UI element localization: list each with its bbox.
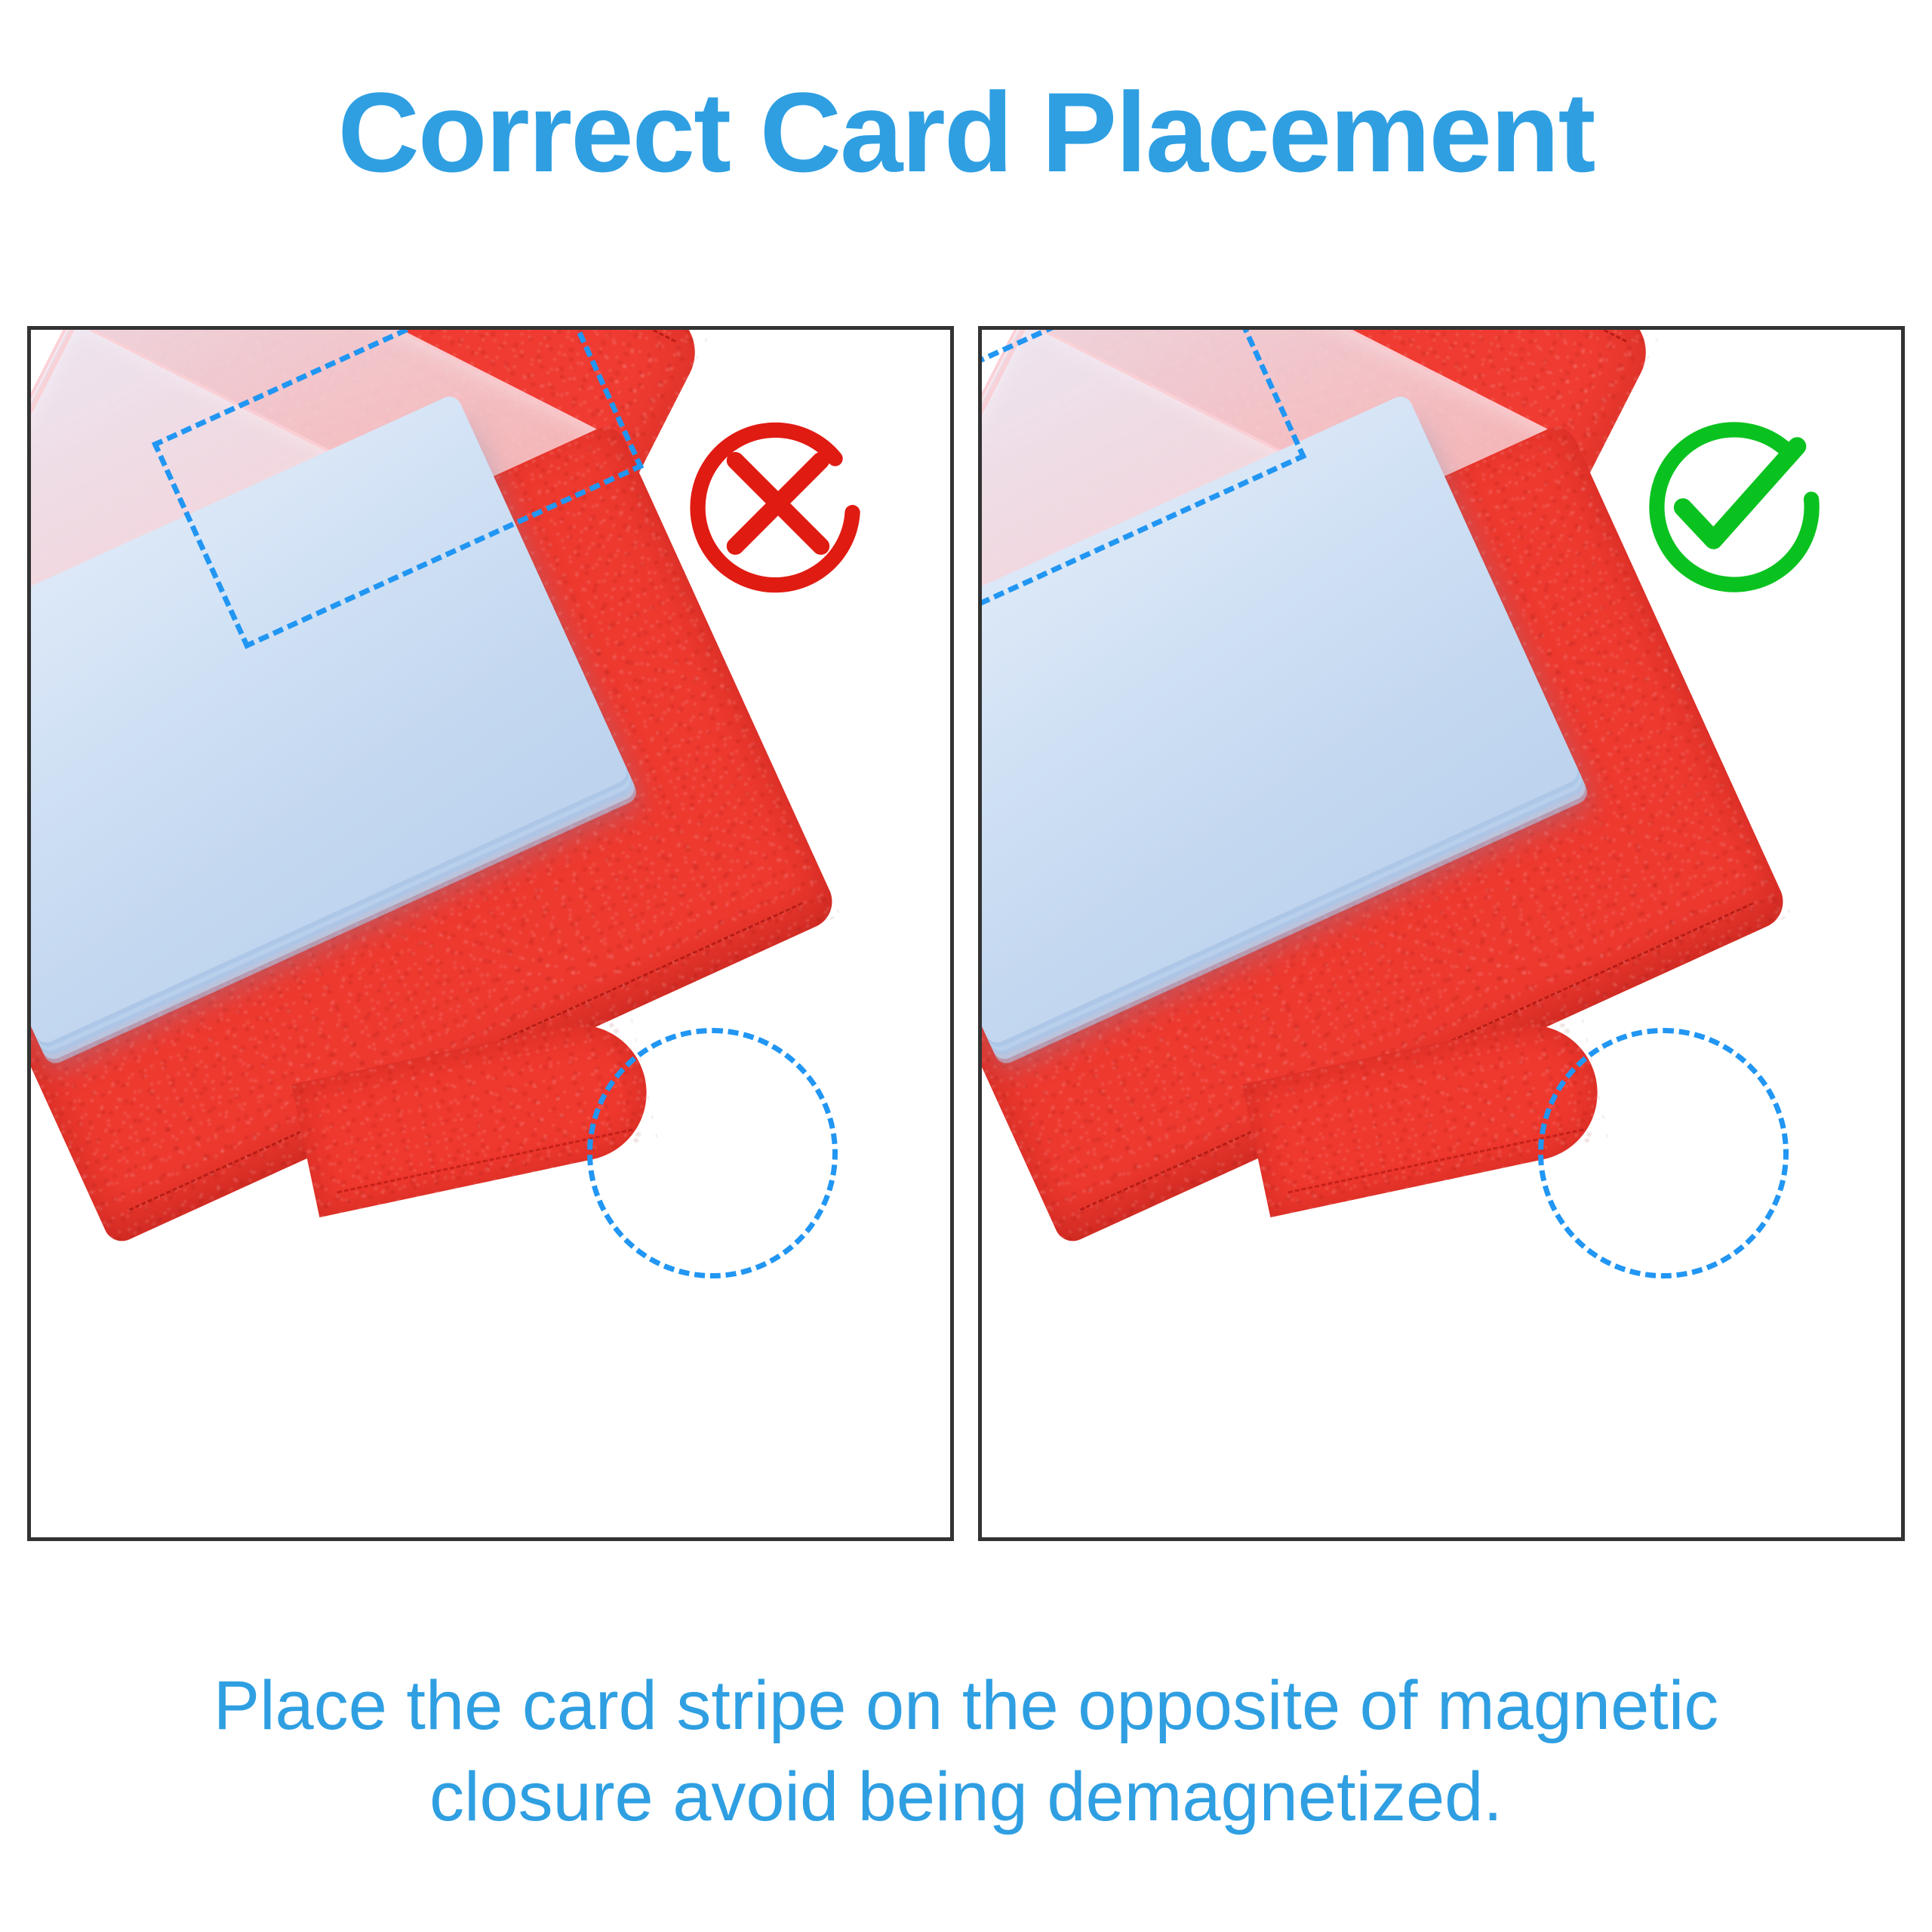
panel-incorrect-placement: 1234 5678 9012 3456 01/12 JOHN Q. DOE NO…: [27, 326, 954, 1541]
circle-check-icon: [1622, 401, 1826, 605]
page-title: Correct Card Placement: [0, 75, 1932, 189]
circle-x-icon: [676, 401, 880, 605]
caption-line-1: Place the card stripe on the opposite of…: [60, 1660, 1872, 1752]
dashed-circle-magnetic-closure-incorrect: [587, 1028, 838, 1278]
dashed-circle-magnetic-closure-correct: [1538, 1028, 1789, 1278]
card-placement-infographic: Correct Card Placement: [0, 0, 1932, 1932]
panel-correct-placement: 1234 5678 9012 3456 01/12 JOHN Q. DOE NO…: [978, 326, 1905, 1541]
footer-caption: Place the card stripe on the opposite of…: [60, 1660, 1872, 1844]
caption-line-2: closure avoid being demagnetized.: [60, 1752, 1872, 1843]
